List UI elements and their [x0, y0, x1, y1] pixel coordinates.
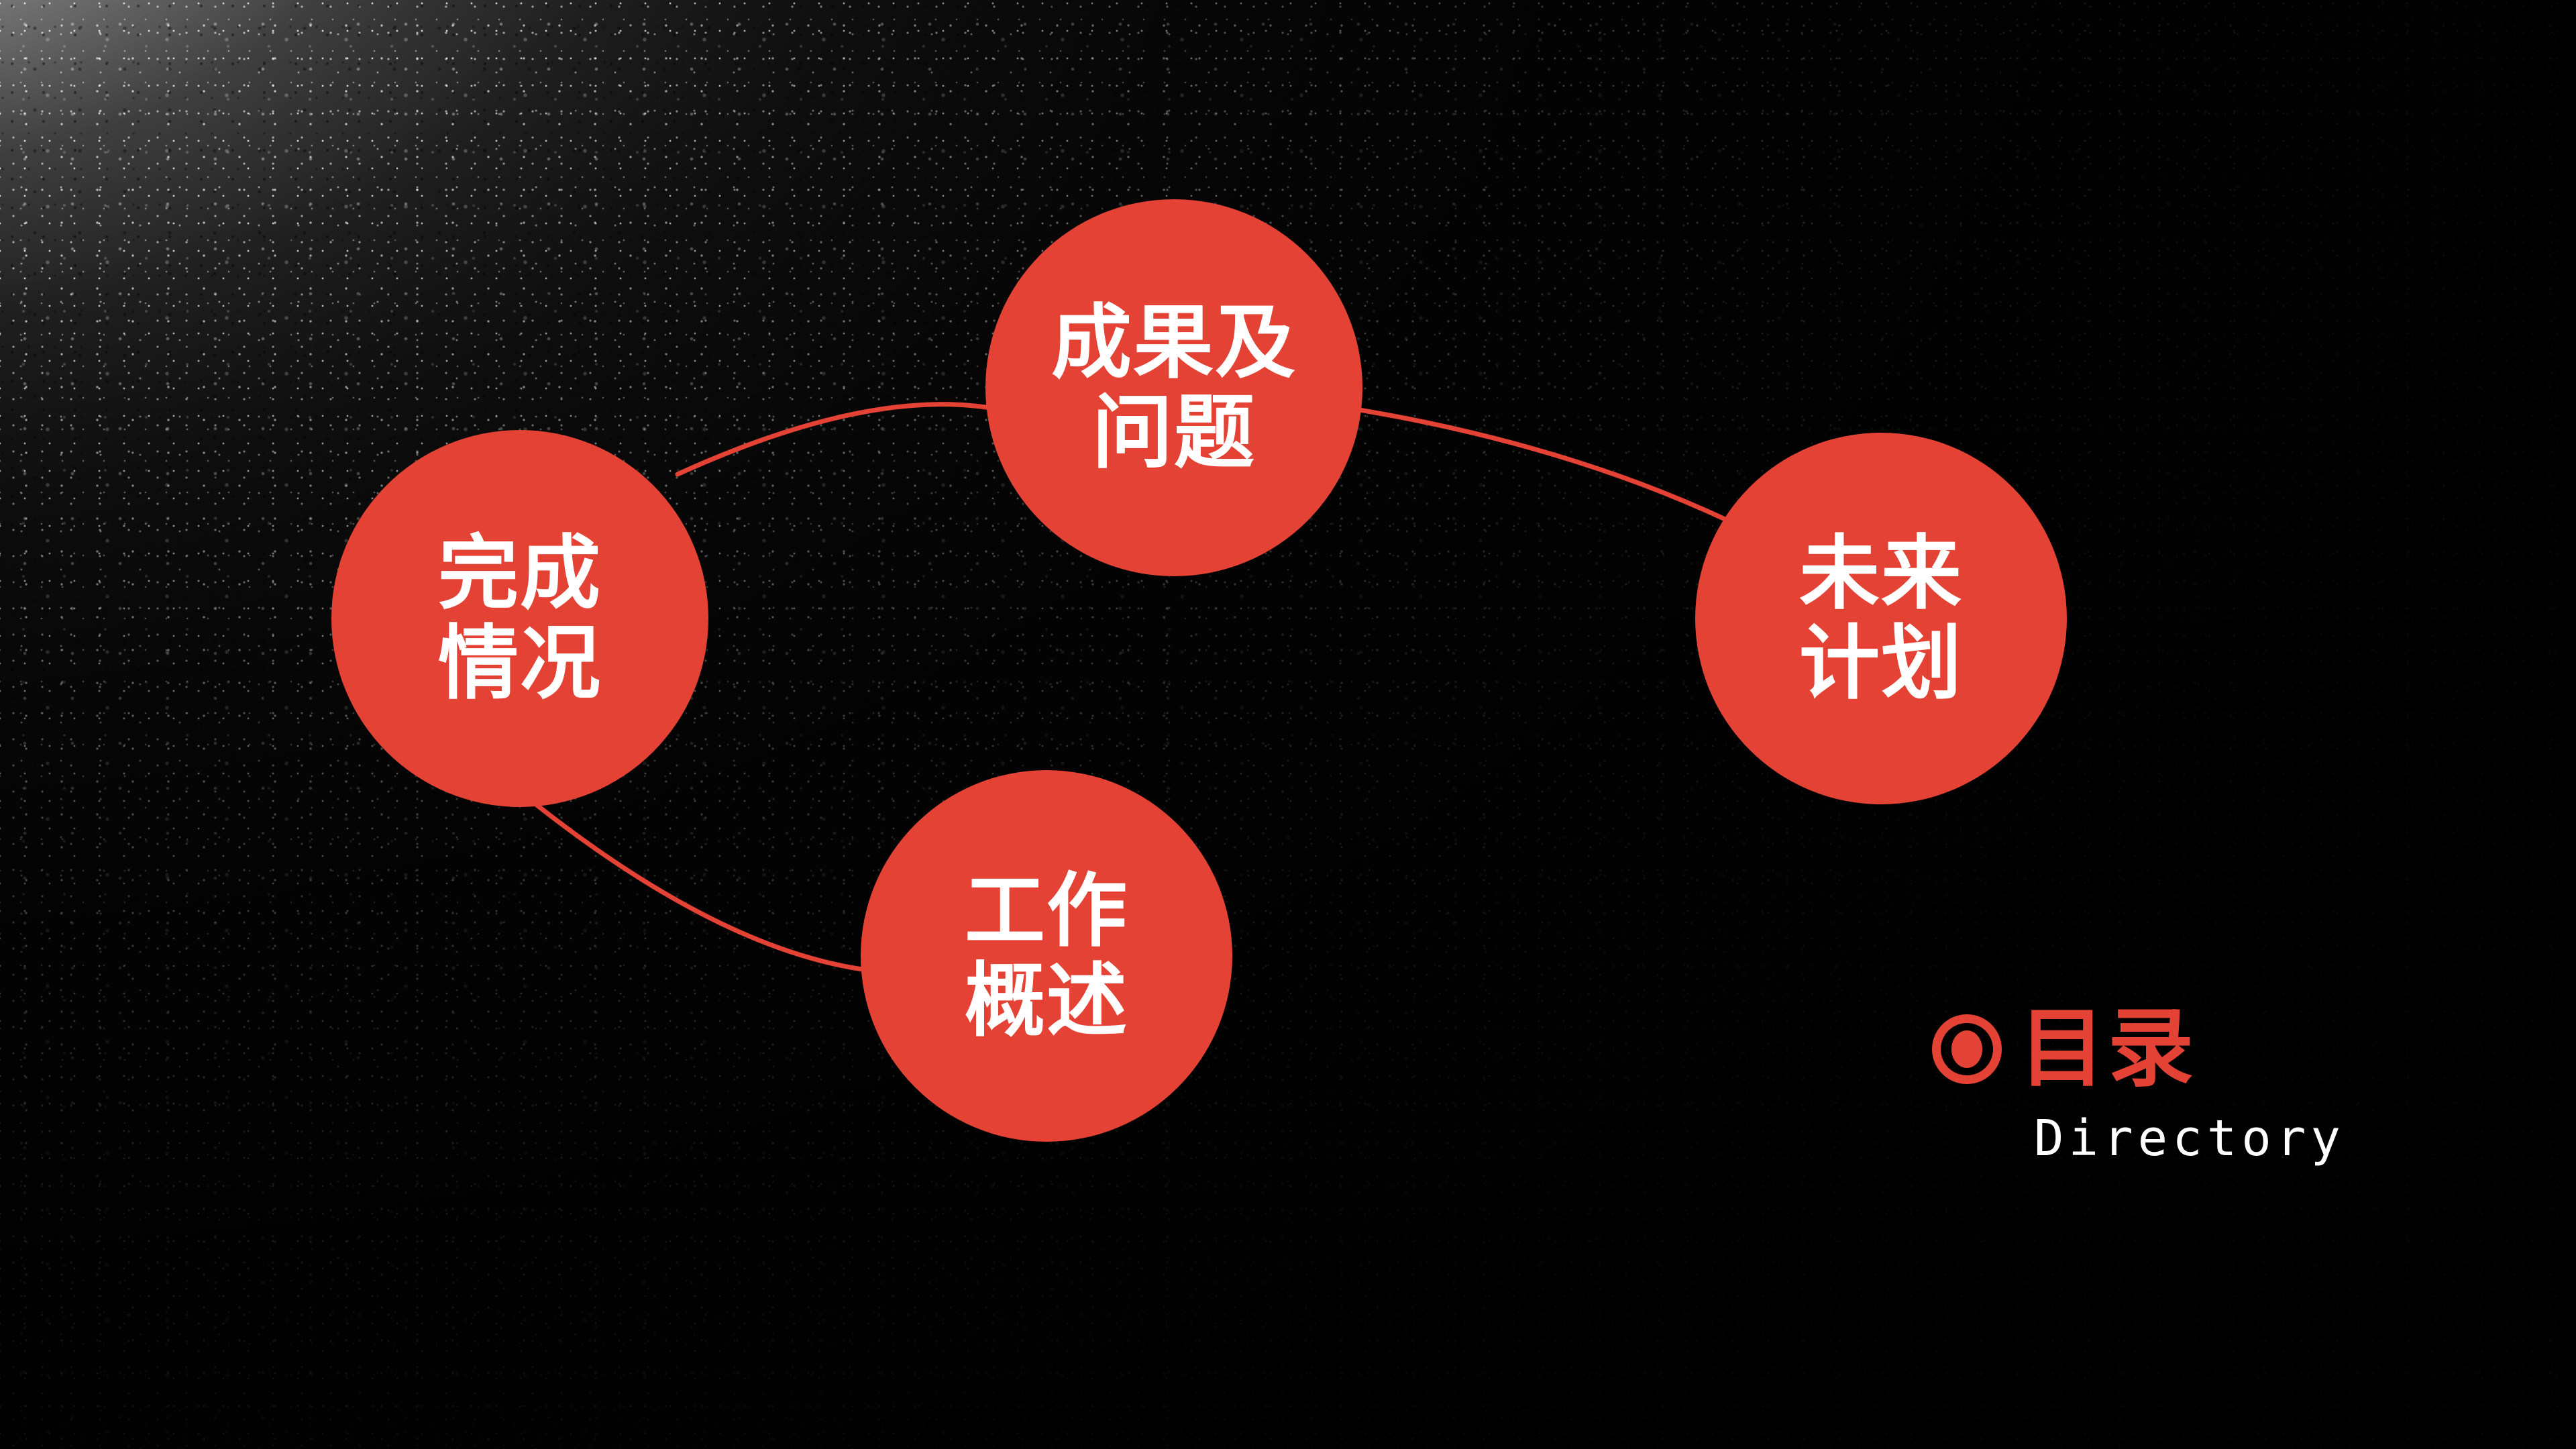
- node-future-plan-line-2: 计划: [1799, 619, 1963, 708]
- node-completion-status[interactable]: 完成情况: [331, 430, 708, 807]
- slide-canvas: 工作概述完成情况成果及问题未来计划 目录 Directory: [0, 0, 2576, 1449]
- directory-title-row: 目录: [1932, 1006, 2196, 1092]
- directory-title-cn: 目录: [2019, 1006, 2196, 1092]
- connector-completion-to-results: [678, 405, 998, 474]
- connector-completion-to-work: [537, 805, 872, 971]
- node-results-problems-line-2: 问题: [1092, 388, 1256, 478]
- node-completion-status-line-1: 完成: [438, 529, 602, 619]
- node-results-problems[interactable]: 成果及问题: [985, 199, 1362, 576]
- connector-results-to-future: [1347, 408, 1731, 522]
- node-completion-status-line-2: 情况: [438, 619, 602, 708]
- node-work-overview-line-1: 工作: [965, 866, 1128, 956]
- target-circle-inner-dot: [1951, 1030, 1982, 1068]
- directory-block: 目录 Directory: [1932, 1006, 2442, 1167]
- node-work-overview-line-2: 概述: [965, 956, 1128, 1046]
- node-work-overview[interactable]: 工作概述: [861, 770, 1232, 1142]
- node-results-problems-line-1: 成果及: [1051, 298, 1297, 388]
- directory-title-en: Directory: [2034, 1110, 2345, 1167]
- node-future-plan-line-1: 未来: [1799, 529, 1963, 619]
- node-future-plan[interactable]: 未来计划: [1695, 433, 2067, 804]
- target-circle-icon: [1932, 1014, 2002, 1084]
